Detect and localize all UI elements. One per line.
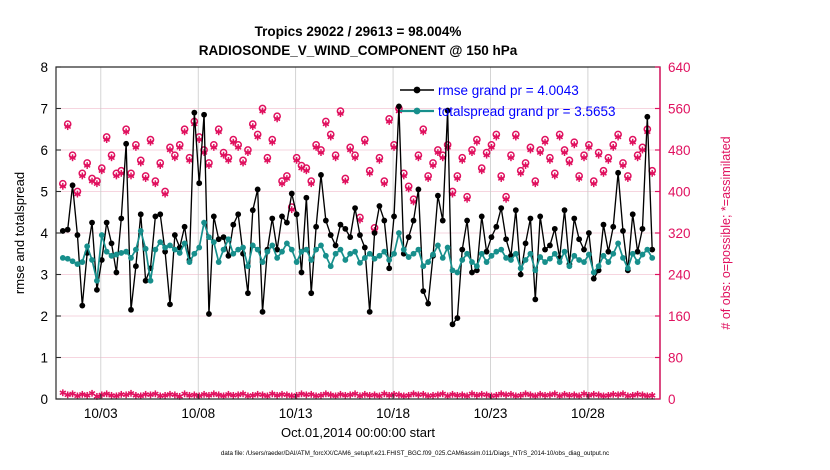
series-point [177, 250, 183, 256]
series-point [245, 290, 251, 296]
series-point [406, 254, 412, 260]
data-file-footer: data file: /Users/raeder/DAI/ATM_forcXX/… [221, 450, 609, 457]
series-point [489, 253, 495, 259]
series-point [503, 236, 509, 242]
series-point [250, 207, 256, 213]
series-point [367, 309, 373, 315]
series-point [562, 249, 568, 255]
series-point [576, 236, 582, 242]
series-point [362, 255, 368, 261]
series-point [323, 218, 329, 224]
series-point [620, 255, 626, 261]
series-point [537, 254, 543, 260]
series-point [196, 180, 202, 186]
x-ticklabel: 10/23 [474, 406, 508, 421]
series-point [347, 234, 353, 240]
series-point [440, 255, 446, 261]
series-point [610, 224, 616, 230]
series-point [294, 211, 300, 217]
series-point [104, 249, 110, 255]
series-point [89, 257, 95, 263]
series-point [191, 251, 197, 257]
series-point [269, 243, 275, 249]
series-point [318, 172, 324, 178]
y-ticklabel-right: 160 [668, 309, 691, 324]
series-point [60, 255, 66, 261]
series-point [435, 193, 441, 199]
y-ticklabel-left: 2 [40, 309, 48, 324]
y-ticklabel-right: 640 [668, 60, 691, 75]
series-point [167, 243, 173, 249]
series-point [289, 247, 295, 253]
series-point [255, 247, 261, 253]
series-point [250, 243, 256, 249]
x-ticklabel: 10/18 [376, 406, 410, 421]
series-point [518, 265, 524, 271]
series-point [109, 253, 115, 259]
series-point [289, 191, 295, 197]
series-point [79, 303, 85, 309]
series-point [528, 216, 534, 222]
legend-marker-swatch [414, 108, 421, 115]
series-point [148, 278, 154, 284]
series-point [547, 256, 553, 262]
series-point [469, 259, 475, 265]
series-point [157, 211, 163, 217]
y-axis-label-left: rmse and totalspread [12, 172, 27, 294]
y-ticklabel-right: 560 [668, 102, 691, 117]
series-point [109, 240, 115, 246]
series-point [294, 259, 300, 265]
y-ticklabel-left: 5 [40, 185, 48, 200]
series-point [620, 228, 626, 234]
series-point [75, 232, 81, 238]
series-point [104, 220, 110, 226]
series-point [342, 257, 348, 263]
series-point [182, 240, 188, 246]
series-point [235, 211, 241, 217]
series-point [206, 311, 212, 317]
series-point [479, 251, 485, 257]
series-point [308, 290, 314, 296]
y-ticklabel-right: 400 [668, 185, 691, 200]
series-point [571, 216, 577, 222]
series-point [528, 251, 534, 257]
series-point [114, 270, 120, 276]
series-point [157, 239, 163, 245]
series-point [464, 218, 470, 224]
series-point [333, 243, 339, 249]
series-point [420, 263, 426, 269]
series-point [138, 211, 144, 217]
series-point [571, 253, 577, 259]
series-point [216, 259, 222, 265]
series-point [89, 220, 95, 226]
series-point [357, 260, 363, 266]
series-point [245, 263, 251, 269]
series-point [318, 243, 324, 249]
series-point [386, 257, 392, 263]
series-point [123, 249, 129, 255]
series-point [411, 218, 417, 224]
series-point [303, 247, 309, 253]
series-point [537, 214, 543, 220]
y-ticklabel-left: 7 [40, 102, 48, 117]
series-point [586, 230, 592, 236]
series-point [328, 232, 334, 238]
x-ticklabel: 10/03 [84, 406, 118, 421]
series-point [635, 259, 641, 265]
series-point [610, 251, 616, 257]
series-point [70, 182, 76, 188]
series-point [255, 187, 261, 193]
series-point [260, 309, 266, 315]
series-point [230, 251, 236, 257]
series-point [118, 250, 124, 256]
y-ticklabel-left: 0 [40, 392, 48, 407]
legend-label: totalspread grand pr = 3.5653 [438, 104, 616, 119]
y-ticklabel-right: 320 [668, 226, 691, 241]
series-point [279, 249, 285, 255]
series-point [440, 218, 446, 224]
series-point [172, 232, 178, 238]
series-point [474, 263, 480, 269]
series-point [70, 258, 76, 264]
series-point [352, 249, 358, 255]
series-point [167, 301, 173, 307]
series-point [498, 205, 504, 211]
series-point [323, 253, 329, 259]
series-point [338, 247, 344, 253]
y-ticklabel-right: 480 [668, 143, 691, 158]
series-point [391, 251, 397, 257]
series-point [425, 301, 431, 307]
series-point [377, 253, 383, 259]
series-point [605, 259, 611, 265]
y-ticklabel-right: 0 [668, 392, 676, 407]
series-point [567, 263, 573, 269]
x-ticklabel: 10/08 [181, 406, 215, 421]
series-point [406, 234, 412, 240]
series-point [211, 239, 217, 245]
series-point [498, 247, 504, 253]
chart-title-line1: Tropics 29022 / 29613 = 98.004% [255, 24, 462, 39]
series-point [338, 222, 344, 228]
series-point [591, 276, 597, 282]
series-point [118, 216, 124, 222]
series-point [615, 170, 621, 176]
series-point [221, 247, 227, 253]
series-point [265, 249, 271, 255]
series-point [523, 257, 529, 263]
series-point [377, 203, 383, 209]
series-point [430, 252, 436, 258]
series-point [386, 265, 392, 271]
series-point [396, 104, 402, 110]
series-point [644, 114, 650, 120]
series-point [133, 263, 139, 269]
y-ticklabel-right: 240 [668, 268, 691, 283]
series-point [396, 230, 402, 236]
series-point [274, 255, 280, 261]
series-point [391, 214, 397, 220]
y-ticklabel-right: 80 [668, 351, 683, 366]
series-point [191, 110, 197, 116]
series-point [508, 257, 514, 263]
series-point [493, 224, 499, 230]
chart-title-line2: RADIOSONDE_V_WIND_COMPONENT @ 150 hPa [199, 43, 518, 58]
series-point [596, 263, 602, 269]
series-point [260, 259, 266, 265]
series-point [454, 270, 460, 276]
series-point [138, 228, 144, 234]
series-point [308, 257, 314, 263]
series-point [552, 251, 558, 257]
series-point [479, 214, 485, 220]
series-point [416, 187, 422, 193]
series-point [532, 267, 538, 273]
series-point [313, 224, 319, 230]
legend-label: rmse grand pr = 4.0043 [438, 83, 579, 98]
series-point [303, 195, 309, 201]
series-point [601, 253, 607, 259]
series-point [172, 247, 178, 253]
y-ticklabel-left: 8 [40, 60, 48, 75]
x-axis-label: Oct.01,2014 00:00:00 start [281, 425, 435, 440]
series-point [454, 315, 460, 321]
series-point [445, 245, 451, 251]
series-point [581, 259, 587, 265]
series-point [532, 297, 538, 303]
series-point [84, 243, 90, 249]
series-point [269, 216, 275, 222]
series-point [586, 252, 592, 258]
y-ticklabel-left: 4 [40, 226, 48, 241]
series-point [557, 259, 563, 265]
legend-marker-swatch [414, 87, 421, 94]
series-point [133, 247, 139, 253]
y-axis-label-right: # of obs: o=possible; *=assimilated [719, 136, 733, 329]
series-point [625, 265, 631, 271]
series-point [649, 255, 655, 261]
series-point [299, 270, 305, 276]
y-ticklabel-left: 6 [40, 143, 48, 158]
series-point [420, 288, 426, 294]
series-point [79, 259, 85, 265]
series-point [372, 230, 378, 236]
series-point [459, 247, 465, 253]
series-point [615, 240, 621, 246]
series-point [333, 251, 339, 257]
series-point [362, 245, 368, 251]
series-point [94, 278, 100, 284]
series-point [284, 220, 290, 226]
series-point [552, 226, 558, 232]
series-point [459, 257, 465, 263]
series-point [401, 247, 407, 253]
series-point [435, 243, 441, 249]
series-point [226, 236, 232, 242]
series-point [381, 218, 387, 224]
series-point [591, 270, 597, 276]
y-ticklabel-left: 3 [40, 268, 48, 283]
series-point [640, 226, 646, 232]
x-ticklabel: 10/13 [279, 406, 313, 421]
series-point [128, 307, 134, 313]
y-ticklabel-left: 1 [40, 351, 48, 366]
series-point [65, 227, 71, 233]
x-ticklabel: 10/28 [571, 406, 605, 421]
series-point [313, 247, 319, 253]
series-point [372, 256, 378, 262]
series-point [518, 272, 524, 278]
series-point [328, 263, 334, 269]
series-point [630, 211, 636, 217]
series-point [416, 247, 422, 253]
series-point [542, 247, 548, 253]
series-point [630, 251, 636, 257]
series-point [425, 259, 431, 265]
series-point [182, 224, 188, 230]
observation-diagnostics-chart: Tropics 29022 / 29613 = 98.004% RADIOSON… [0, 0, 830, 470]
series-point [581, 247, 587, 253]
series-point [240, 245, 246, 251]
series-point [601, 222, 607, 228]
series-point [411, 251, 417, 257]
series-point [187, 259, 193, 265]
series-point [542, 259, 548, 265]
series-point [128, 255, 134, 261]
series-point [640, 252, 646, 258]
series-point [342, 226, 348, 232]
series-point [523, 240, 529, 246]
series-point [152, 247, 158, 253]
series-point [94, 287, 100, 293]
series-point [230, 222, 236, 228]
series-point [211, 214, 217, 220]
series-point [464, 251, 470, 257]
series-point [196, 245, 202, 251]
series-point [562, 207, 568, 213]
series-point [201, 220, 207, 226]
series-point [352, 205, 358, 211]
series-point [357, 232, 363, 238]
series-point [513, 207, 519, 213]
series-point [279, 214, 285, 220]
series-point [143, 246, 149, 252]
series-point [547, 243, 553, 249]
series-point [450, 321, 456, 327]
series-point [489, 234, 495, 240]
series-point [206, 234, 212, 240]
series-point [484, 259, 490, 265]
series-point [284, 240, 290, 246]
series-point [201, 112, 207, 118]
series-point [123, 141, 129, 147]
series-point [367, 251, 373, 257]
series-point [99, 232, 105, 238]
series-point [644, 247, 650, 253]
series-point [513, 251, 519, 257]
series-point [381, 249, 387, 255]
